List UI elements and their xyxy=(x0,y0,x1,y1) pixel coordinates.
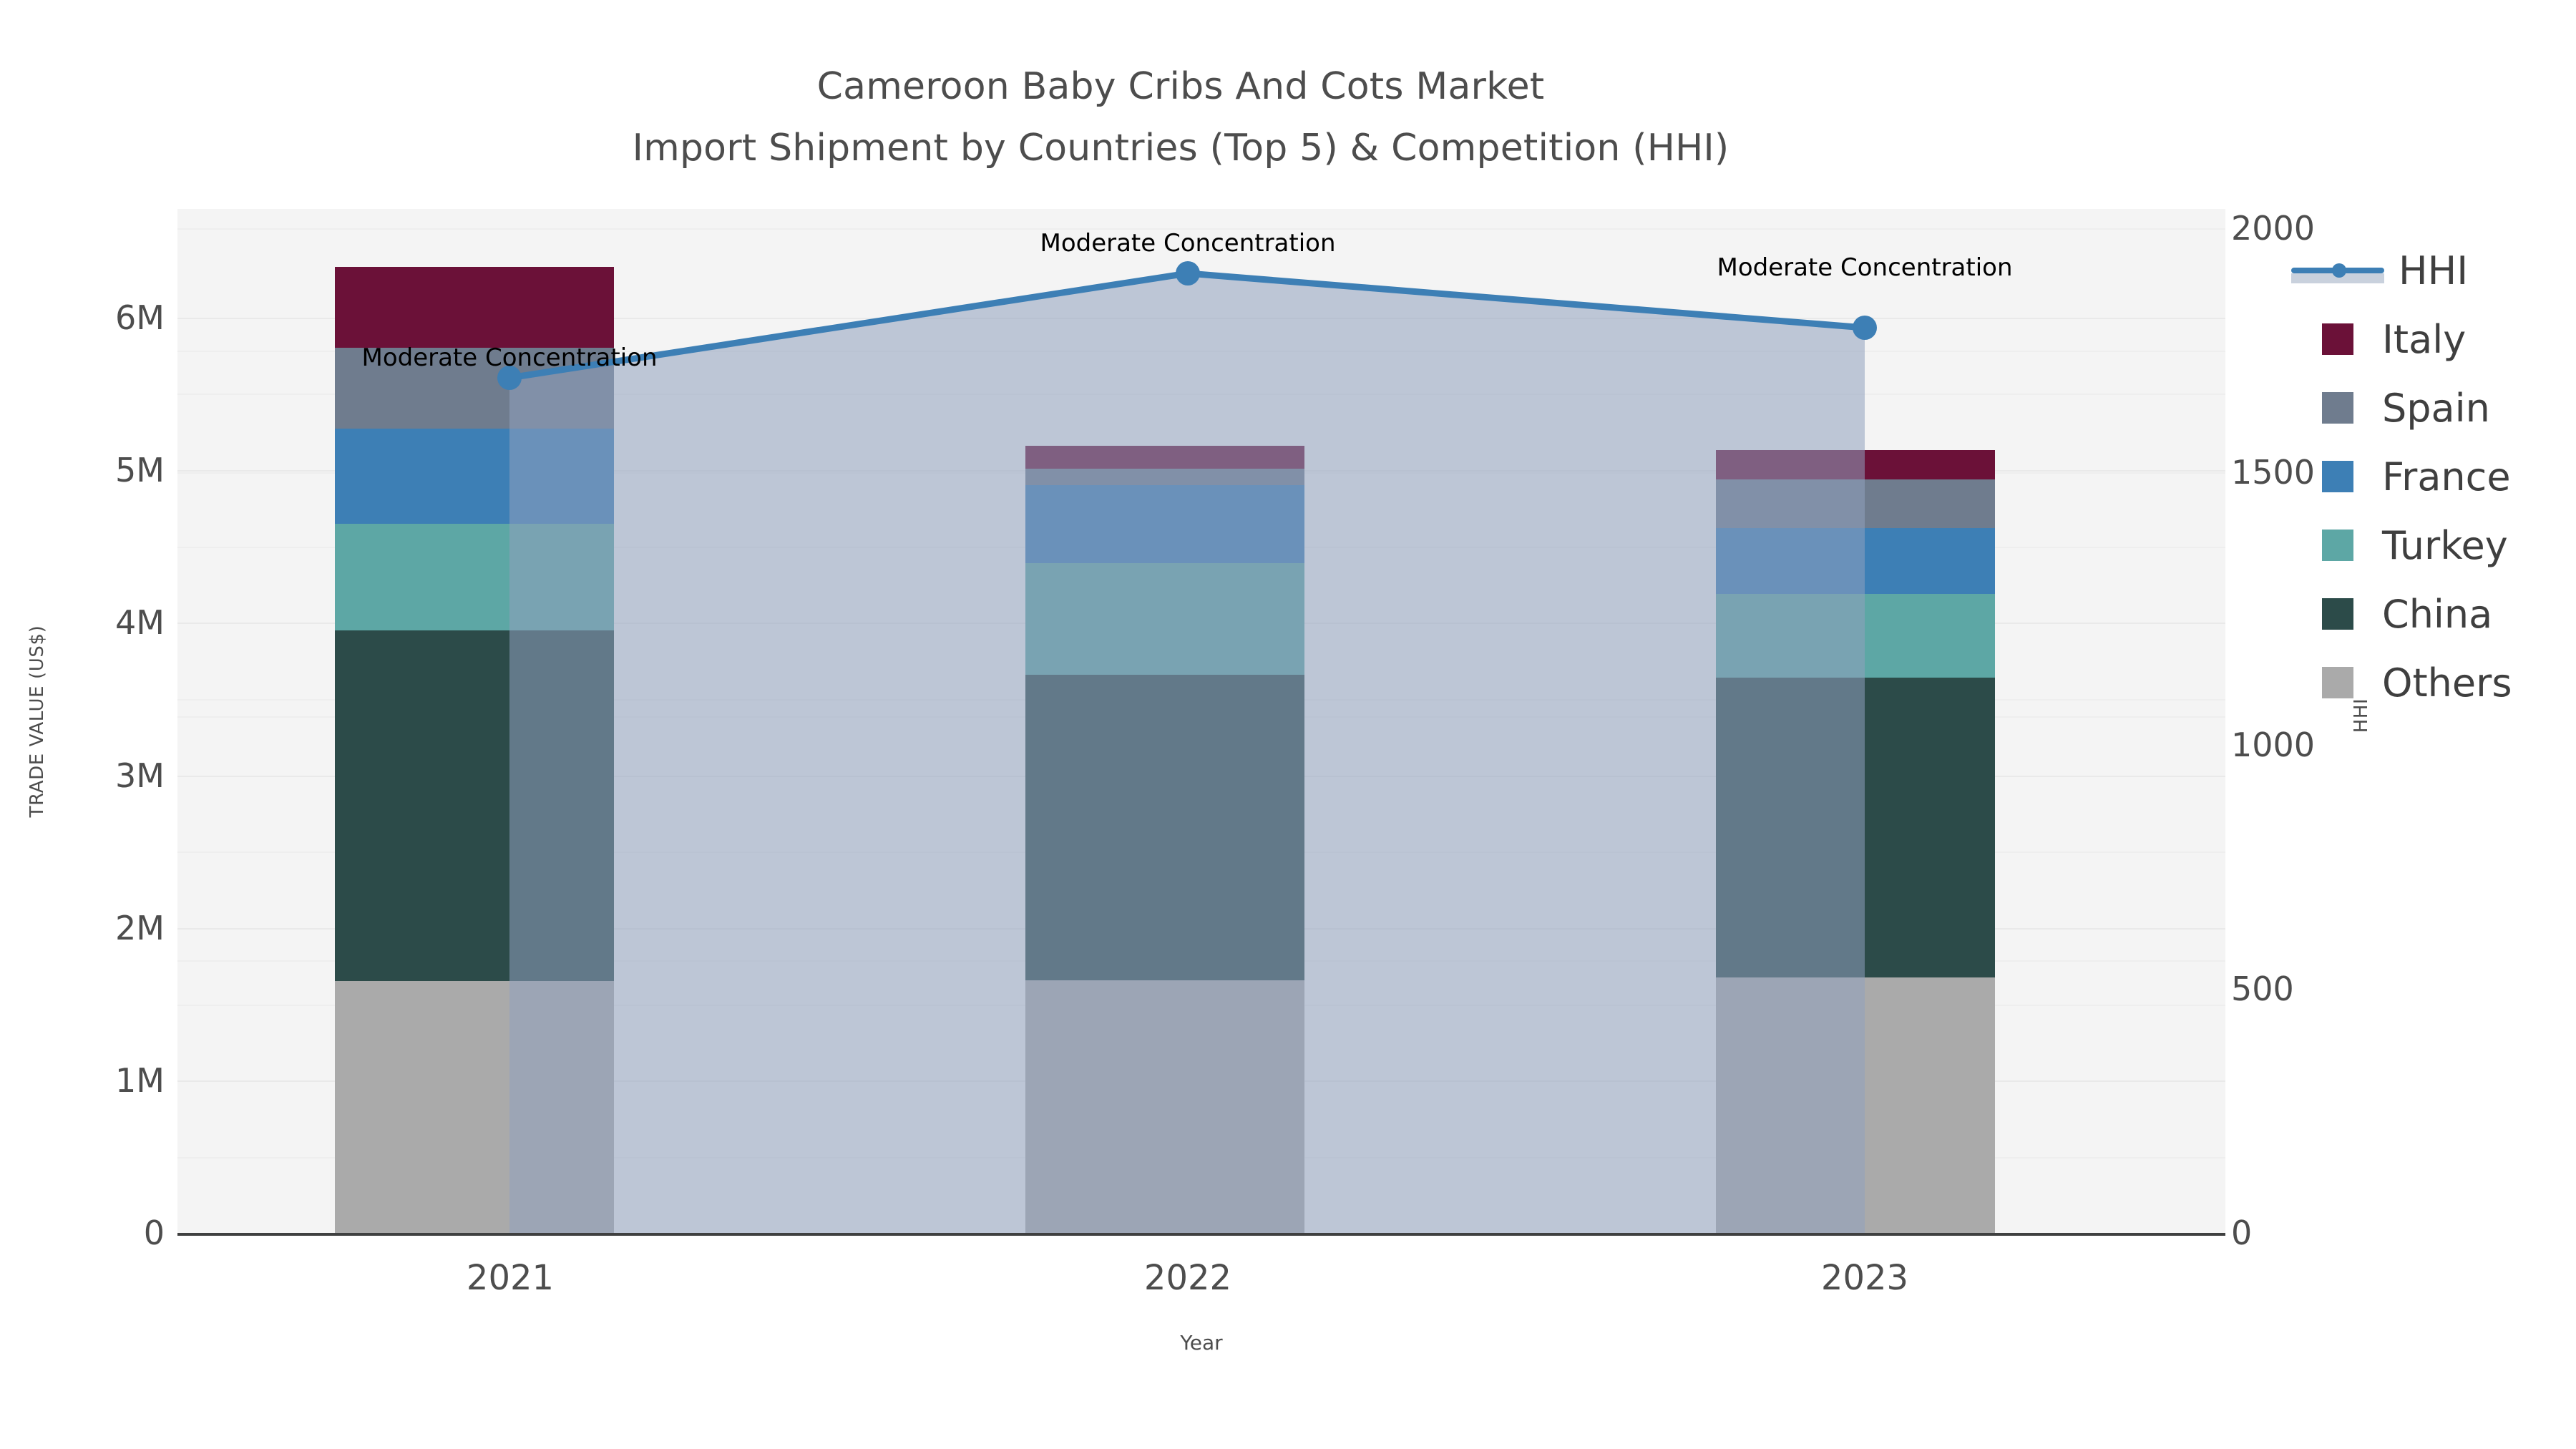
y-left-tick-0: 0 xyxy=(29,1214,165,1252)
bar-2023[interactable] xyxy=(1716,450,1995,1234)
legend: HHI Italy Spain France Turkey China Othe… xyxy=(2322,236,2512,717)
bar-segment-spain[interactable] xyxy=(1716,479,1995,528)
bar-segment-france[interactable] xyxy=(335,429,614,524)
legend-label-italy: Italy xyxy=(2382,317,2466,362)
hhi-line-icon xyxy=(2291,255,2384,286)
legend-label-turkey: Turkey xyxy=(2382,523,2508,568)
swatch-turkey-icon xyxy=(2322,530,2353,561)
bar-segment-others[interactable] xyxy=(1716,977,1995,1234)
legend-label-hhi: HHI xyxy=(2399,248,2468,293)
x-tick-2021: 2021 xyxy=(467,1258,554,1298)
legend-label-china: China xyxy=(2382,592,2492,637)
bar-2022[interactable] xyxy=(1025,446,1304,1234)
title-line-1: Cameroon Baby Cribs And Cots Market xyxy=(0,56,2361,117)
legend-item-others[interactable]: Others xyxy=(2322,648,2512,717)
swatch-china-icon xyxy=(2322,598,2353,630)
bar-segment-others[interactable] xyxy=(335,981,614,1234)
legend-item-france[interactable]: France xyxy=(2322,442,2512,511)
y-left-tick-4M: 4M xyxy=(29,603,165,642)
swatch-spain-icon xyxy=(2322,392,2353,424)
y-axis-left-label: TRADE VALUE (US$) xyxy=(26,625,48,818)
bar-segment-china[interactable] xyxy=(1716,678,1995,977)
y-left-tick-2M: 2M xyxy=(29,909,165,947)
bar-2021[interactable] xyxy=(335,267,614,1234)
y-left-tick-3M: 3M xyxy=(29,756,165,795)
y-left-tick-6M: 6M xyxy=(29,298,165,337)
bar-segment-turkey[interactable] xyxy=(1025,563,1304,675)
bar-segment-france[interactable] xyxy=(1716,528,1995,594)
x-axis-label: Year xyxy=(1180,1331,1222,1355)
bar-segment-spain[interactable] xyxy=(335,348,614,429)
bar-segment-france[interactable] xyxy=(1025,485,1304,563)
x-tick-2023: 2023 xyxy=(1821,1258,1908,1298)
legend-label-spain: Spain xyxy=(2382,386,2490,431)
legend-label-others: Others xyxy=(2382,660,2512,706)
x-axis-line xyxy=(177,1233,2225,1236)
bar-segment-spain[interactable] xyxy=(1025,469,1304,485)
legend-item-spain[interactable]: Spain xyxy=(2322,374,2512,442)
y-left-tick-1M: 1M xyxy=(29,1061,165,1100)
y-right-tick-0: 0 xyxy=(2231,1214,2252,1252)
swatch-italy-icon xyxy=(2322,323,2353,355)
legend-item-china[interactable]: China xyxy=(2322,580,2512,648)
legend-label-france: France xyxy=(2382,454,2511,499)
y-right-tick-1000: 1000 xyxy=(2231,726,2315,764)
bar-segment-turkey[interactable] xyxy=(1716,594,1995,678)
y-right-tick-500: 500 xyxy=(2231,970,2294,1008)
y-left-tick-5M: 5M xyxy=(29,451,165,489)
bar-segment-others[interactable] xyxy=(1025,980,1304,1234)
y-right-tick-1500: 1500 xyxy=(2231,453,2315,492)
bar-segment-italy[interactable] xyxy=(1025,446,1304,469)
legend-item-italy[interactable]: Italy xyxy=(2322,305,2512,374)
swatch-others-icon xyxy=(2322,667,2353,698)
plot-area xyxy=(177,209,2225,1234)
x-tick-2022: 2022 xyxy=(1144,1258,1231,1298)
swatch-france-icon xyxy=(2322,461,2353,492)
legend-item-turkey[interactable]: Turkey xyxy=(2322,511,2512,580)
gridline-hhi-2000 xyxy=(177,228,2225,230)
bar-segment-turkey[interactable] xyxy=(335,524,614,630)
title-line-2: Import Shipment by Countries (Top 5) & C… xyxy=(0,117,2361,179)
bar-segment-italy[interactable] xyxy=(335,267,614,348)
chart-canvas: Cameroon Baby Cribs And Cots Market Impo… xyxy=(0,0,2576,1449)
y-right-tick-2000: 2000 xyxy=(2231,209,2315,248)
bar-segment-china[interactable] xyxy=(1025,675,1304,980)
bar-segment-italy[interactable] xyxy=(1716,450,1995,479)
chart-title: Cameroon Baby Cribs And Cots Market Impo… xyxy=(0,56,2361,179)
bar-segment-china[interactable] xyxy=(335,630,614,981)
legend-item-hhi[interactable]: HHI xyxy=(2322,236,2512,305)
